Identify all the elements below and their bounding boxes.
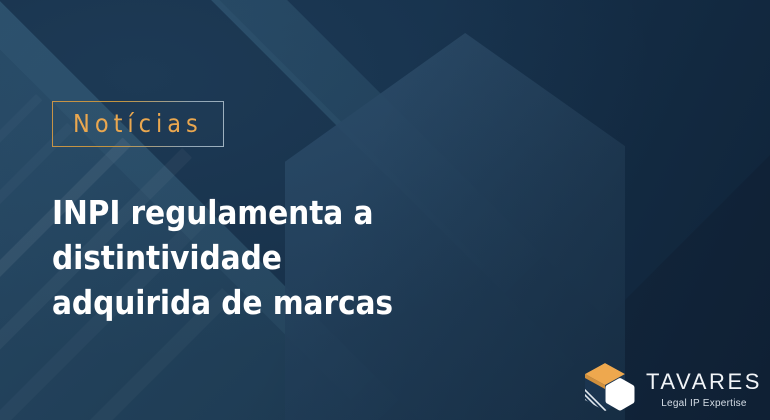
news-banner: Notícias INPI regulamenta a distintivida… [0, 0, 770, 420]
tavares-hexagon-logo-mark-icon [583, 360, 637, 420]
logo-name: TAVARES [646, 371, 762, 393]
page-title: INPI regulamenta a distintividade adquir… [52, 147, 532, 326]
logo-tagline: Legal IP Expertise [646, 393, 762, 409]
category-badge[interactable]: Notícias [52, 101, 224, 147]
category-badge-label: Notícias [73, 111, 203, 136]
banner-content: Notícias INPI regulamenta a distintivida… [52, 101, 770, 326]
tavares-logo-wordmark: TAVARES Legal IP Expertise [646, 360, 762, 409]
tavares-logo[interactable]: TAVARES Legal IP Expertise [583, 360, 762, 420]
